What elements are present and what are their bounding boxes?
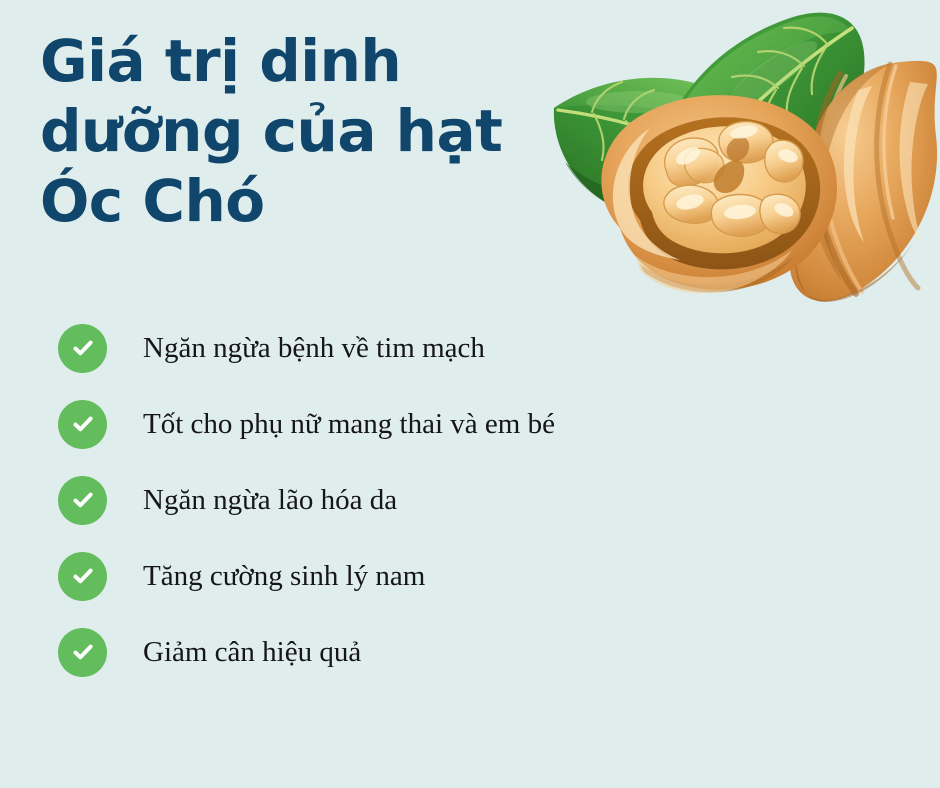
check-circle-icon [58, 476, 107, 525]
list-item: Tốt cho phụ nữ mang thai và em bé [58, 386, 878, 462]
benefit-label: Ngăn ngừa lão hóa da [143, 483, 397, 517]
title-line-3: Óc Chó [40, 166, 580, 236]
title-line-2: dưỡng của hạt [40, 96, 580, 166]
check-circle-icon [58, 628, 107, 677]
benefit-label: Tốt cho phụ nữ mang thai và em bé [143, 407, 555, 441]
check-circle-icon [58, 400, 107, 449]
page-title: Giá trị dinh dưỡng của hạt Óc Chó [40, 26, 580, 236]
benefits-list: Ngăn ngừa bệnh về tim mạch Tốt cho phụ n… [58, 310, 878, 690]
benefit-label: Giảm cân hiệu quả [143, 635, 361, 669]
infographic-poster: Giá trị dinh dưỡng của hạt Óc Chó [0, 0, 940, 788]
check-circle-icon [58, 552, 107, 601]
check-circle-icon [58, 324, 107, 373]
walnut-illustration [540, 6, 940, 316]
benefit-label: Ngăn ngừa bệnh về tim mạch [143, 331, 485, 365]
list-item: Tăng cường sinh lý nam [58, 538, 878, 614]
list-item: Ngăn ngừa bệnh về tim mạch [58, 310, 878, 386]
title-line-1: Giá trị dinh [40, 26, 580, 96]
benefit-label: Tăng cường sinh lý nam [143, 559, 425, 593]
list-item: Giảm cân hiệu quả [58, 614, 878, 690]
list-item: Ngăn ngừa lão hóa da [58, 462, 878, 538]
